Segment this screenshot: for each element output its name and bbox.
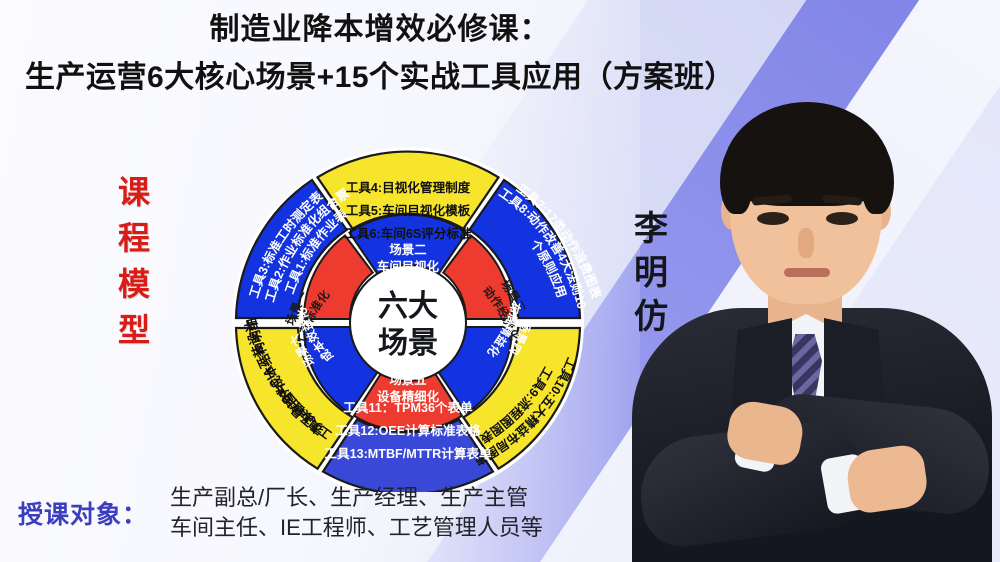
hair-side-right [862,144,894,214]
presenter-photo [610,52,1000,562]
mouth [784,268,830,277]
inner-scene-5-name: 设备精细化 [377,389,440,404]
lecturer-name: 李 明 仿 [634,212,668,334]
course-model-char-1: 程 [118,222,150,254]
audience-lines: 生产副总/厂长、生产经理、生产主管 车间主任、IE工程师、工艺管理人员等 [170,484,543,541]
outer-top-line-0: 工具4:目视化管理制度 [346,180,471,195]
slide-canvas: 制造业降本增效必修课： 生产运营6大核心场景+15个实战工具应用（方案班） 课 … [0,0,1000,562]
course-model-char-0: 课 [118,176,150,208]
wheel-center-line1: 六大 [378,290,438,323]
inner-scene-2-index: 场景二 [389,243,426,257]
lecturer-char-0: 李 [634,212,668,246]
outer-top-line-2: 工具6:车间6S评分标准 [344,226,472,241]
eye-right [826,212,858,225]
outer-bottom-line-1: 工具12:OEE计算标准表格 [335,423,481,438]
inner-scene-2-name: 车间目视化 [377,259,440,274]
eye-left [757,212,789,225]
course-model-label: 课 程 模 型 [118,176,150,346]
title-block: 制造业降本增效必修课： 生产运营6大核心场景+15个实战工具应用（方案班） [0,10,760,99]
page-title-line1: 制造业降本增效必修课： [0,10,760,51]
six-scenarios-wheel: 工具4:目视化管理制度 工具5:车间目视化模板 工具6:车间6S评分标准 工具7… [198,112,618,492]
course-model-char-3: 型 [118,314,150,346]
wheel-center-line2: 场景 [378,327,438,360]
lecturer-char-1: 明 [634,256,668,290]
inner-scene-5-index: 场景五 [389,373,426,387]
outer-top-line-1: 工具5:车间目视化模板 [346,203,471,218]
audience-label: 授课对象： [18,495,148,531]
outer-bottom-line-2: 工具13:MTBF/MTTR计算表单 [324,446,492,461]
hair-side-left [720,144,752,214]
page-title-line2: 生产运营6大核心场景+15个实战工具应用（方案班） [0,57,760,99]
wheel-center-circle [350,265,466,381]
lecturer-char-2: 仿 [634,300,668,334]
nose [798,228,814,258]
audience-line-0: 生产副总/厂长、生产经理、生产主管 [170,484,543,512]
audience-block: 授课对象： 生产副总/厂长、生产经理、生产主管 车间主任、IE工程师、工艺管理人… [18,484,543,541]
audience-line-1: 车间主任、IE工程师、工艺管理人员等 [170,514,543,542]
course-model-char-2: 模 [118,268,150,300]
wheel-svg: 工具4:目视化管理制度 工具5:车间目视化模板 工具6:车间6S评分标准 工具7… [198,112,618,492]
